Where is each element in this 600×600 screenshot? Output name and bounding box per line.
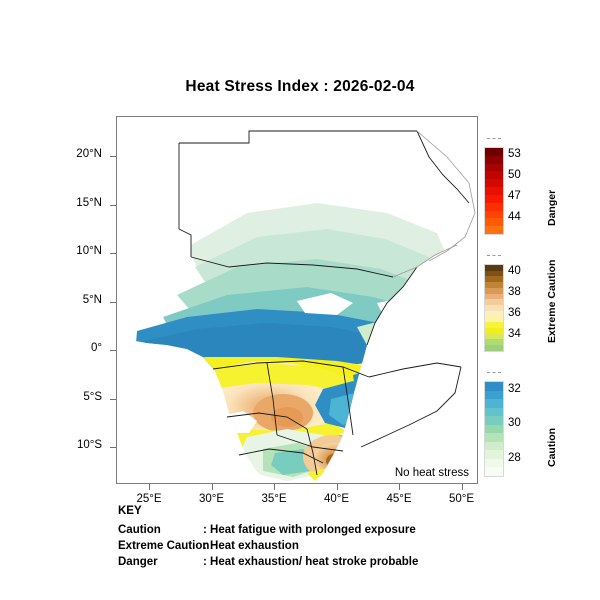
colorbar-separator <box>487 255 501 256</box>
key-description: : Heat fatigue with prolonged exposure <box>203 524 416 536</box>
colorbar-separator <box>487 372 501 373</box>
x-tick-label: 50°E <box>432 493 492 505</box>
colorbar-category-label-danger: Danger <box>546 190 558 226</box>
colorbar-step <box>485 156 503 164</box>
colorbar-category-label-caution: Caution <box>546 428 558 467</box>
colorbar-step <box>485 467 503 476</box>
colorbar-segment-caution <box>484 381 504 477</box>
colorbar-step <box>485 164 503 172</box>
colorbar-separator <box>487 138 501 139</box>
colorbar-step <box>485 345 503 351</box>
map-raster <box>117 117 477 483</box>
colorbar-step <box>485 226 503 234</box>
colorbar-tick-label: 47 <box>508 190 521 202</box>
colorbar-tick-label: 53 <box>508 148 521 160</box>
colorbar-step <box>485 171 503 179</box>
y-tick <box>110 399 116 400</box>
y-tick <box>110 205 116 206</box>
y-tick <box>110 447 116 448</box>
colorbar-step <box>485 148 503 156</box>
y-tick-label: 5°N <box>42 294 102 306</box>
colorbar-tick-label: 50 <box>508 169 521 181</box>
y-tick-label: 10°N <box>42 245 102 257</box>
colorbar-step <box>485 433 503 442</box>
no-heat-stress-annotation: No heat stress <box>393 467 471 479</box>
colorbar-step <box>485 416 503 425</box>
key-term: Danger <box>118 556 158 568</box>
colorbar-tick-label: 36 <box>508 307 521 319</box>
x-tick-label: 45°E <box>369 493 429 505</box>
heat-stress-map-figure: Heat Stress Index : 2026-02-04 <box>0 0 600 600</box>
raster-field <box>117 117 477 483</box>
colorbar-step <box>485 459 503 468</box>
x-tick <box>399 484 400 490</box>
y-tick <box>110 350 116 351</box>
colorbar-step <box>485 218 503 226</box>
y-tick-label: 10°S <box>42 439 102 451</box>
x-tick <box>337 484 338 490</box>
y-tick <box>110 156 116 157</box>
y-tick-label: 5°S <box>42 391 102 403</box>
key-term: Caution <box>118 524 161 536</box>
colorbar-step <box>485 187 503 195</box>
x-tick <box>462 484 463 490</box>
x-tick-label: 40°E <box>307 493 367 505</box>
x-tick-label: 25°E <box>119 493 179 505</box>
colorbar-step <box>485 203 503 211</box>
colorbar-tick-label: 40 <box>508 265 521 277</box>
x-tick-label: 30°E <box>182 493 242 505</box>
y-tick-label: 20°N <box>42 148 102 160</box>
colorbar-tick-label: 28 <box>508 452 521 464</box>
key-term: Extreme Caution <box>118 540 209 552</box>
colorbar-category-label-extreme-caution: Extreme Caution <box>546 260 558 343</box>
colorbar-step <box>485 408 503 417</box>
key-description: : Heat exhaustion <box>203 540 299 552</box>
map-panel[interactable]: No heat stress <box>116 116 478 484</box>
colorbar-step <box>485 450 503 459</box>
colorbar-step <box>485 399 503 408</box>
colorbar-step <box>485 391 503 400</box>
colorbar-step <box>485 382 503 391</box>
x-tick-label: 35°E <box>244 493 304 505</box>
colorbar-step <box>485 211 503 219</box>
colorbar-tick-label: 44 <box>508 211 521 223</box>
colorbar-tick-label: 34 <box>508 328 521 340</box>
colorbar-segment-extreme-caution <box>484 264 504 352</box>
colorbar-step <box>485 425 503 434</box>
x-tick <box>212 484 213 490</box>
x-tick <box>149 484 150 490</box>
y-tick <box>110 302 116 303</box>
colorbar-step <box>485 195 503 203</box>
colorbar-step <box>485 179 503 187</box>
page-title: Heat Stress Index : 2026-02-04 <box>0 78 600 96</box>
y-tick-label: 0° <box>42 342 102 354</box>
colorbar-step <box>485 442 503 451</box>
colorbar-tick-label: 38 <box>508 286 521 298</box>
key-description: : Heat exhaustion/ heat stroke probable <box>203 556 418 568</box>
colorbar-tick-label: 32 <box>508 383 521 395</box>
x-tick <box>274 484 275 490</box>
colorbar-tick-label: 30 <box>508 417 521 429</box>
colorbar-segment-danger <box>484 147 504 235</box>
y-tick-label: 15°N <box>42 197 102 209</box>
key-heading: KEY <box>118 505 142 517</box>
y-tick <box>110 253 116 254</box>
